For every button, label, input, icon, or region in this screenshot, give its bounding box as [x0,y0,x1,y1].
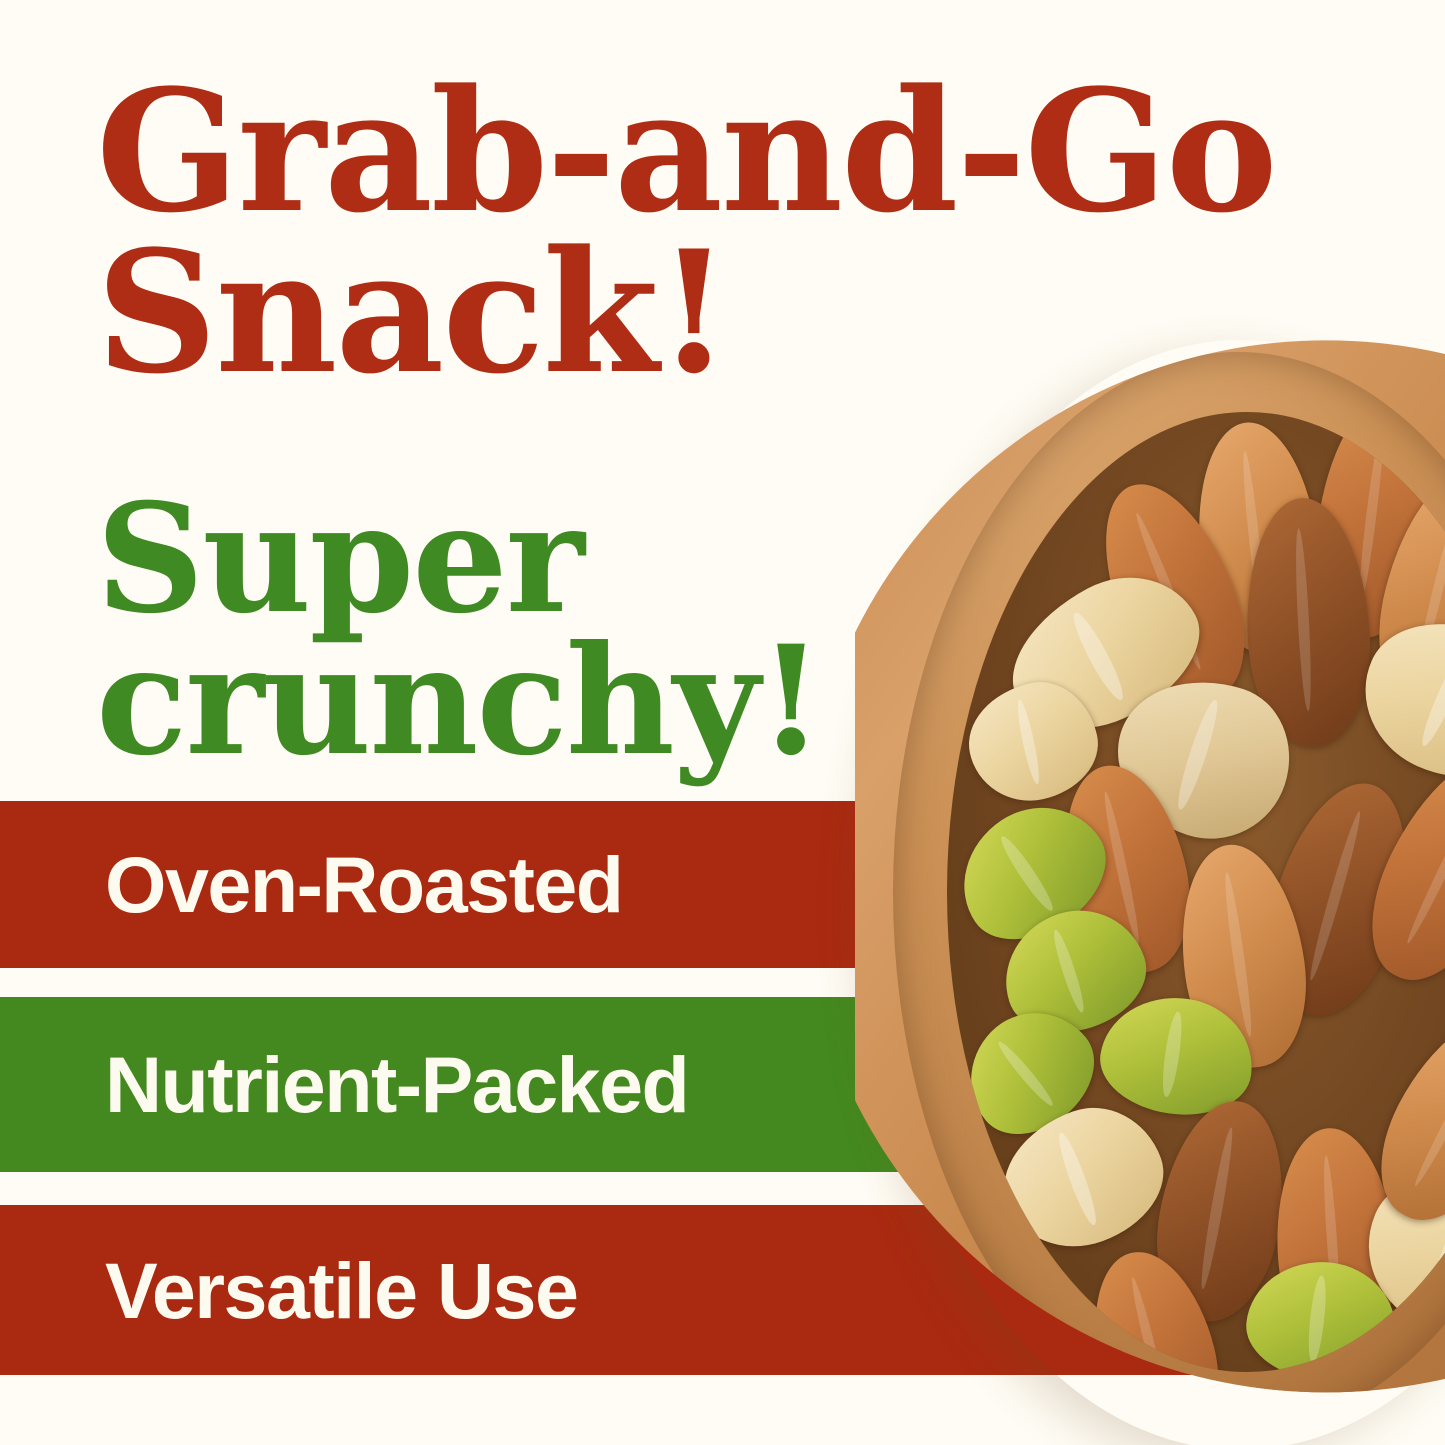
feature-banner-versatile-use: Versatile Use [0,1205,1275,1375]
nut-cashew [987,550,1222,759]
nut-cashew [1344,1144,1445,1360]
headline: Grab-and-Go Snack! [96,74,1386,389]
nut-almond [1247,768,1432,1031]
nut-almond [1187,416,1329,659]
nut-almond [1360,462,1445,718]
nut-almond [1269,1124,1402,1358]
headline-line-1: Grab-and-Go [96,74,1386,229]
nut-almond [1344,735,1445,1002]
nut-almond [1077,465,1270,720]
nut-almond [1354,994,1445,1242]
nut-almond [1305,412,1445,644]
promo-poster: Grab-and-Go Snack! Super crunchy! Oven-R… [0,0,1445,1445]
subheadline: Super crunchy! [96,490,996,770]
feature-banner-oven-roasted: Oven-Roasted [0,801,1190,968]
subheadline-line-1: Super [96,490,996,628]
feature-banner-label: Nutrient-Packed [105,1045,688,1124]
nut-cashew [1340,595,1445,804]
nut-almond [1241,495,1376,749]
feature-banner-label: Oven-Roasted [105,845,623,924]
subheadline-line-2: crunchy! [96,632,996,770]
feature-banner-nutrient-packed: Nutrient-Packed [0,997,1270,1172]
headline-line-2: Snack! [96,235,1386,390]
feature-banner-label: Versatile Use [105,1251,577,1330]
